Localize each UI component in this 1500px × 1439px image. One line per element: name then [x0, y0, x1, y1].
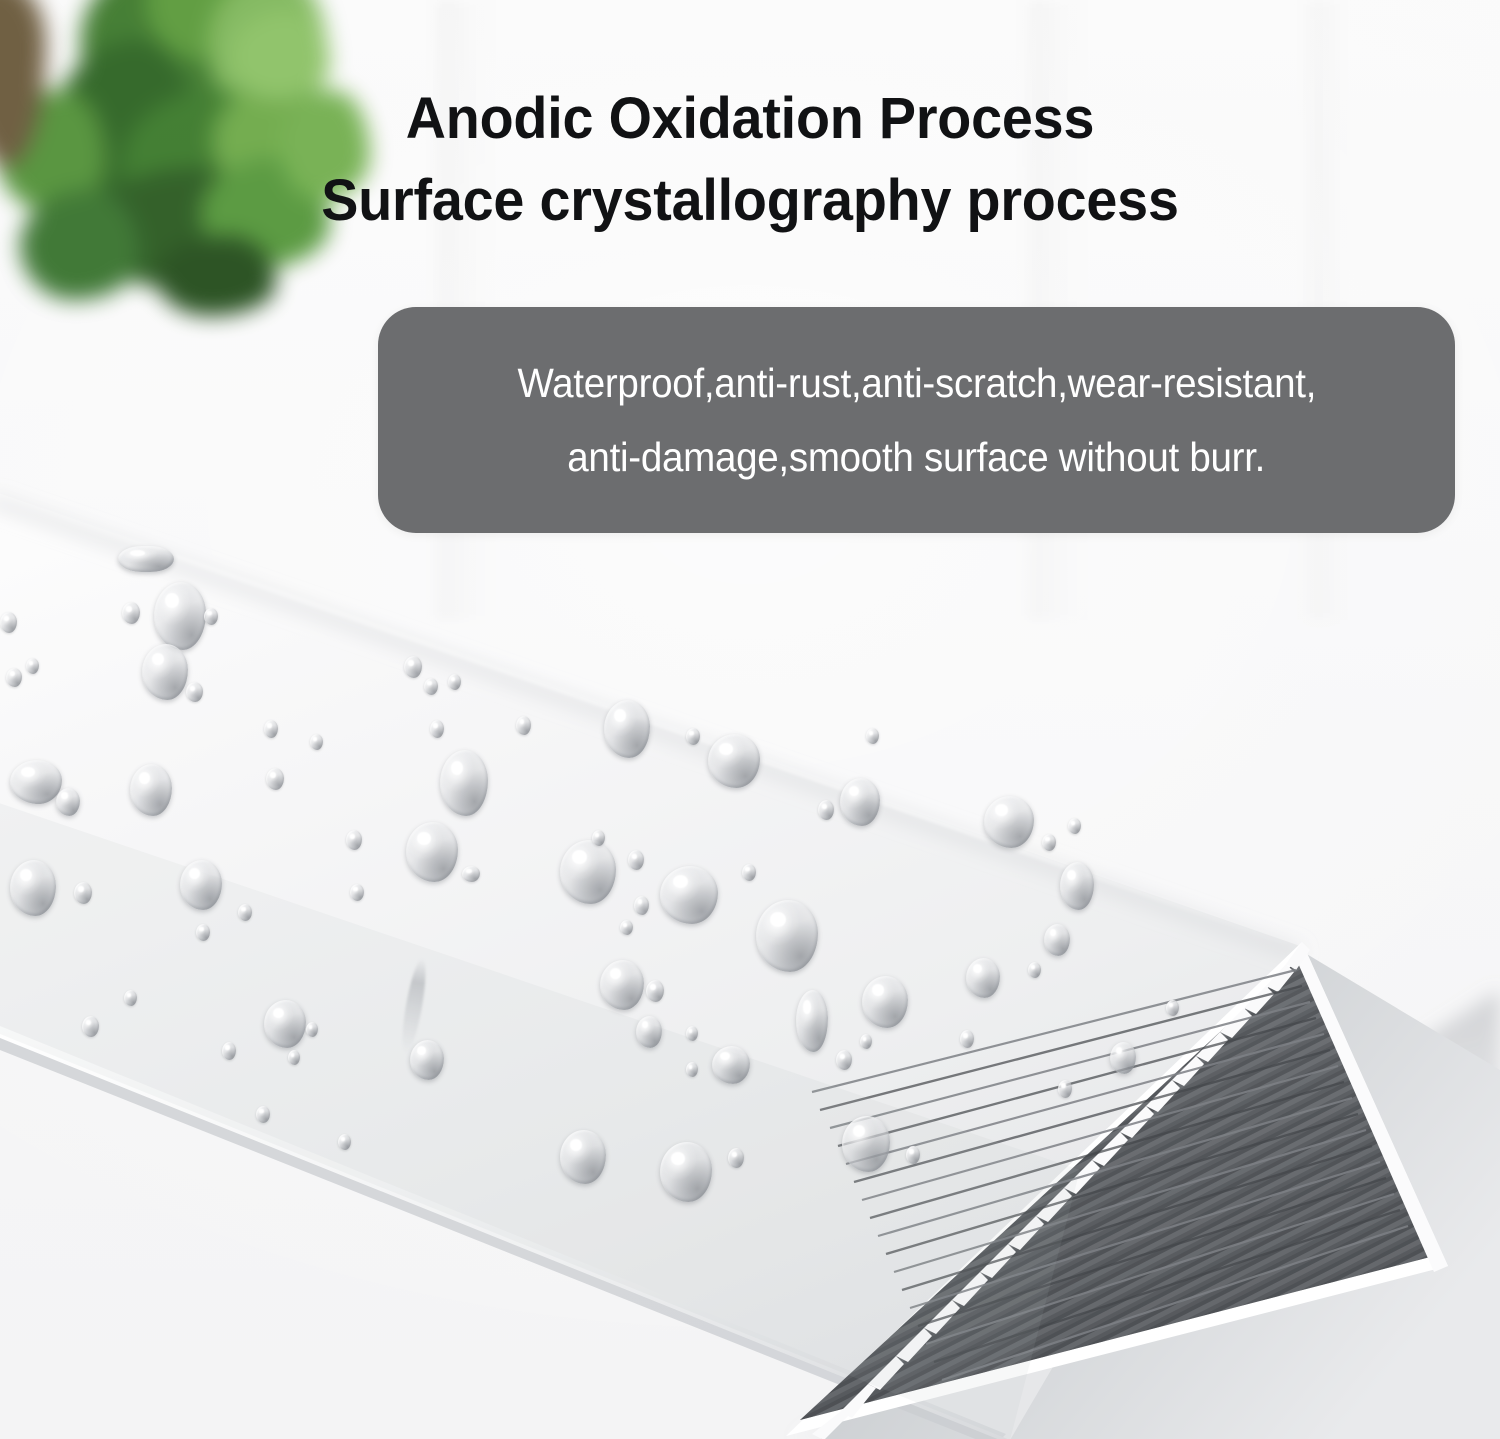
page-title: Anodic Oxidation Process Surface crystal…: [30, 78, 1470, 242]
caption-line-2: anti-damage,smooth surface without burr.: [568, 420, 1266, 494]
product-marketing-image: Anodic Oxidation Process Surface crystal…: [0, 0, 1500, 1439]
headline-line-2: Surface crystallography process: [30, 160, 1470, 242]
water-droplets-layer: [0, 430, 1500, 1439]
caption-line-1: Waterproof,anti-rust,anti-scratch,wear-r…: [517, 346, 1316, 420]
feature-caption-box: Waterproof,anti-rust,anti-scratch,wear-r…: [378, 307, 1455, 533]
headline-line-1: Anodic Oxidation Process: [30, 78, 1470, 160]
